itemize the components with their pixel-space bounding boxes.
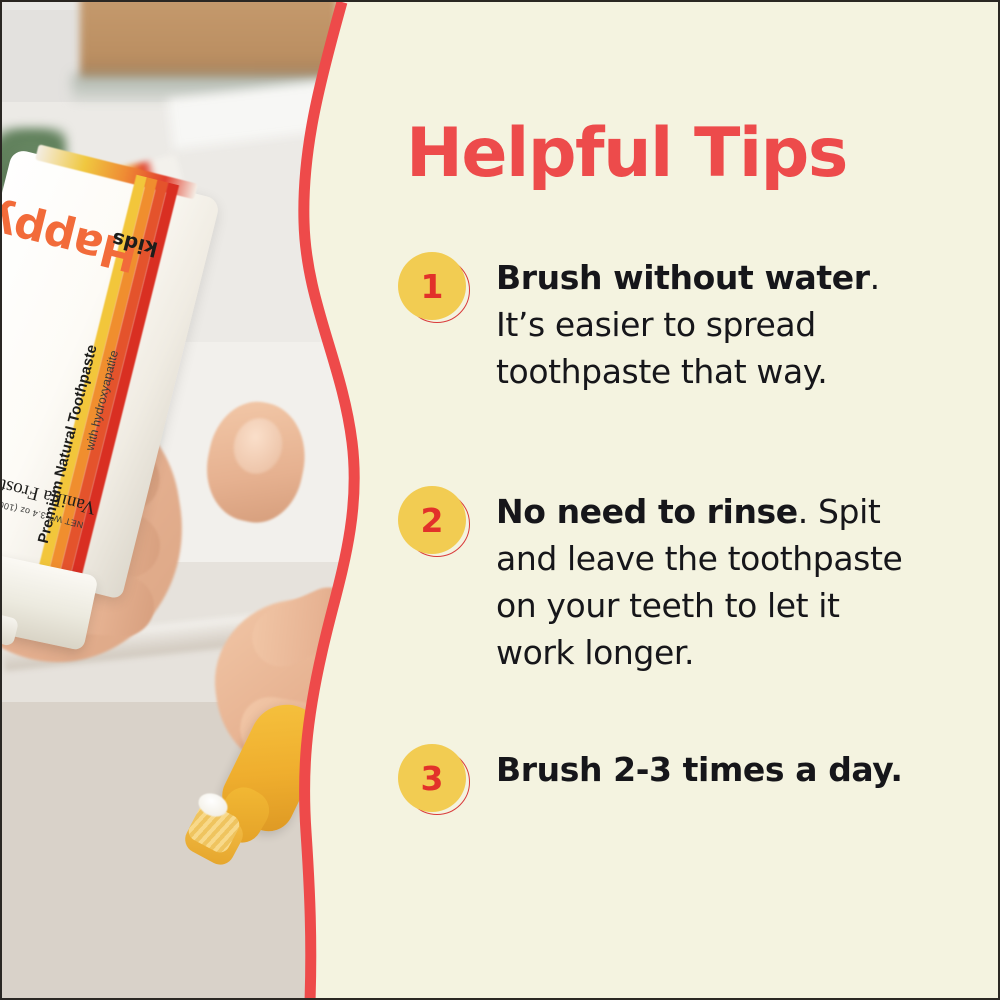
badge-disc: 3 (398, 744, 466, 812)
tip-text-2: No need to rinse. Spit and leave the too… (496, 486, 918, 676)
badge-disc: 1 (398, 252, 466, 320)
tip-item-1: 1 Brush without water. It’s easier to sp… (398, 252, 918, 395)
tip-number-badge-3: 3 (398, 744, 470, 816)
tip-number-badge-1: 1 (398, 252, 470, 324)
tip-lead-3: Brush 2-3 times a day. (496, 750, 903, 789)
tip-text-1: Brush without water. It’s easier to spre… (496, 252, 918, 395)
page-title: Helpful Tips (406, 114, 847, 193)
tip-lead-2: No need to rinse (496, 492, 798, 531)
tip-item-2: 2 No need to rinse. Spit and leave the t… (398, 486, 918, 676)
blurred-cardboard-box (80, 2, 338, 80)
badge-number: 1 (421, 270, 444, 303)
badge-number: 2 (421, 504, 444, 537)
tip-item-3: 3 Brush 2-3 times a day. (398, 744, 918, 816)
tips-panel: Helpful Tips 1 Brush without water. It’s… (398, 2, 988, 998)
tip-number-badge-2: 2 (398, 486, 470, 558)
tip-text-3: Brush 2-3 times a day. (496, 744, 918, 793)
badge-number: 3 (421, 762, 444, 795)
tip-lead-1: Brush without water (496, 258, 870, 297)
badge-disc: 2 (398, 486, 466, 554)
helpful-tips-infographic: HappyTooth kids Premium Natural Toothpas… (0, 0, 1000, 1000)
